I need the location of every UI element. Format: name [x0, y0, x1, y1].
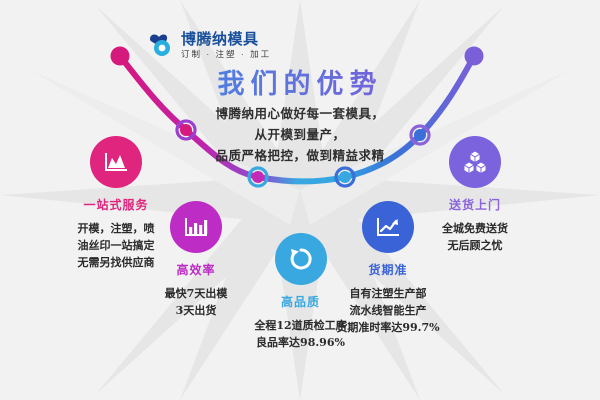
boxes-icon — [461, 149, 489, 175]
node-3 — [252, 171, 264, 183]
feature-icon-circle — [170, 201, 222, 253]
infographic-canvas: 博腾纳模具 订制 · 注塑 · 加工 我们的优势 博腾纳用心做好每一套模具， 从… — [0, 0, 600, 400]
feature-line: 无后顾之忧 — [405, 237, 545, 254]
logo-mark-icon — [146, 30, 176, 60]
node-4 — [339, 171, 351, 183]
line-chart-up-icon — [375, 215, 401, 239]
feature-line: 全城免费送货 — [405, 220, 545, 237]
feature-line: 货期准时率达99.7% — [313, 319, 463, 336]
bar-chart-icon — [183, 215, 209, 239]
description-line-1: 博腾纳用心做好每一套模具， — [0, 103, 600, 124]
feature-line: 自有注塑生产部 — [313, 285, 463, 302]
feature-description: 自有注塑生产部 流水线智能生产 货期准时率达99.7% — [313, 285, 463, 336]
feature-icon-circle — [449, 136, 501, 188]
brand-logo: 博腾纳模具 订制 · 注塑 · 加工 — [146, 30, 271, 60]
feature-title: 货期准 — [313, 261, 463, 278]
feature-description: 全城免费送货 无后顾之忧 — [405, 220, 545, 254]
feature-door-delivery[interactable]: 送货上门 全城免费送货 无后顾之忧 — [405, 136, 545, 254]
page-title: 我们的优势 — [0, 62, 600, 101]
feature-line: 良品率达98.96% — [223, 334, 378, 351]
area-chart-icon — [103, 150, 129, 174]
refresh-circle-icon — [288, 246, 314, 272]
logo-name: 博腾纳模具 — [181, 32, 271, 47]
node-4-ring — [336, 168, 354, 186]
feature-line: 流水线智能生产 — [313, 302, 463, 319]
feature-title: 送货上门 — [405, 196, 545, 213]
feature-icon-circle — [90, 136, 142, 188]
node-3-ring — [249, 168, 267, 186]
logo-subtitle: 订制 · 注塑 · 加工 — [181, 50, 271, 59]
